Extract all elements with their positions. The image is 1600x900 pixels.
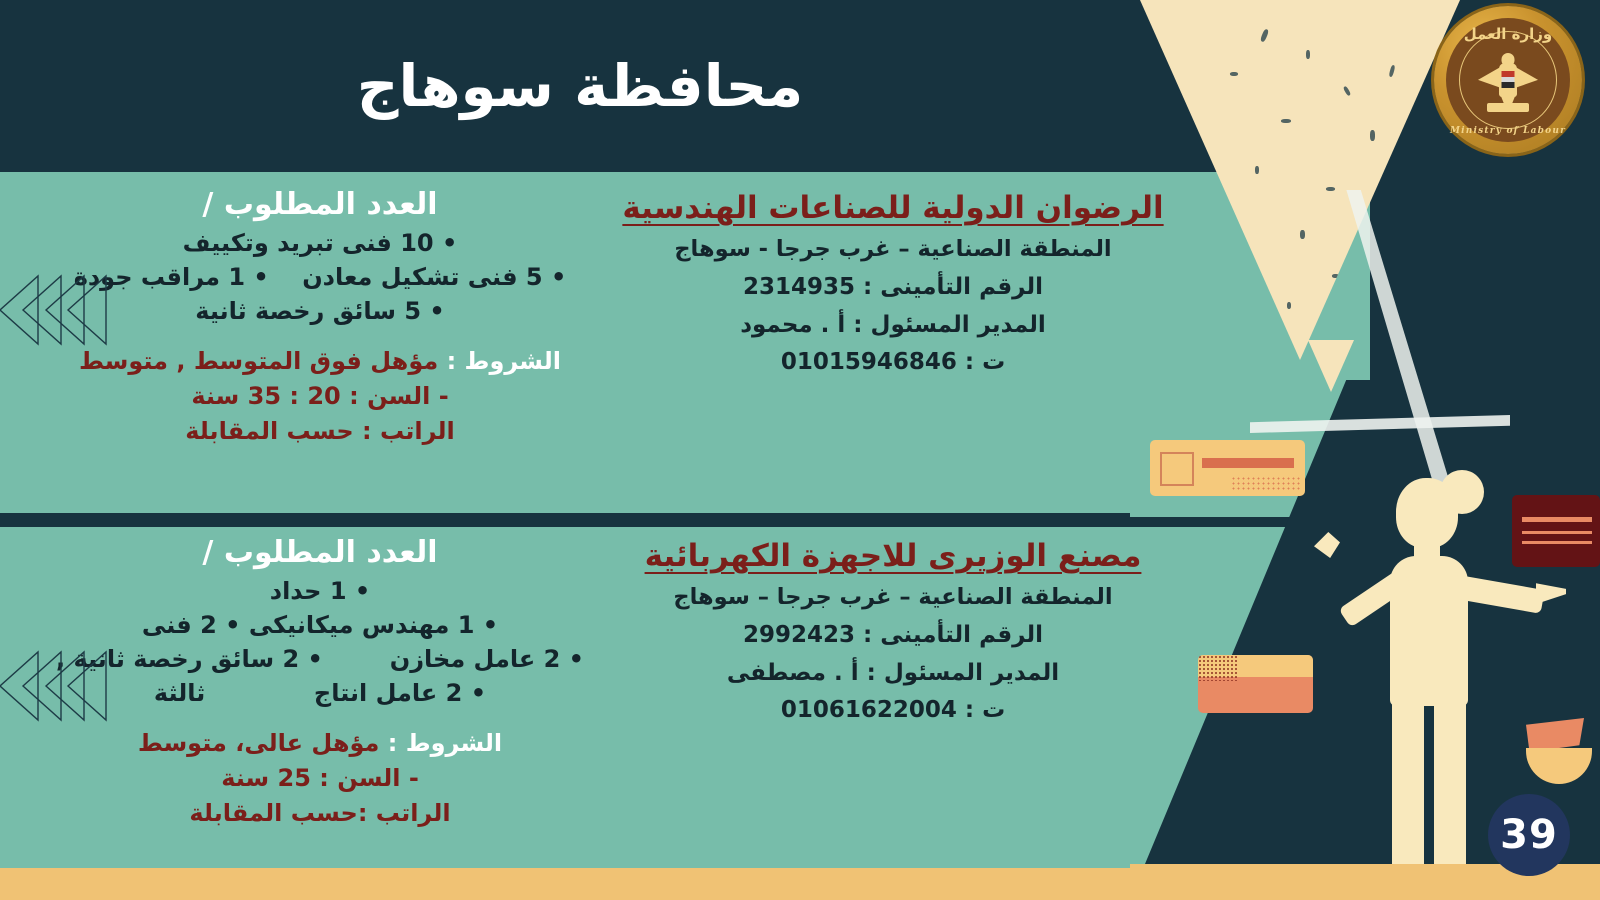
slide-root: وزارة العمل Ministry of Labour محافظة سو… bbox=[0, 0, 1600, 900]
list-item: • 2 عامل انتاج ثالثة bbox=[30, 676, 610, 710]
company-info-2: مصنع الوزيرى للاجهزة الكهربائية المنطقة … bbox=[620, 530, 1180, 860]
page-number-badge: 39 bbox=[1488, 794, 1570, 876]
conditions-age-2: - السن : 25 سنة bbox=[30, 761, 610, 796]
chevron-arrows-icon bbox=[0, 274, 108, 346]
chevron-arrows-icon bbox=[0, 650, 108, 722]
company-name-2: مصنع الوزيرى للاجهزة الكهربائية bbox=[620, 536, 1166, 577]
conditions-age-1: - السن : 20 : 35 سنة bbox=[30, 379, 610, 414]
conditions-1: الشروط : مؤهل فوق المتوسط , متوسط - السن… bbox=[30, 344, 610, 449]
orange-card-icon bbox=[1198, 655, 1313, 713]
conditions-qualification-2: مؤهل عالى، متوسط bbox=[138, 729, 380, 757]
company-insurance-1: الرقم التأمينى : 2314935 bbox=[620, 271, 1166, 304]
conditions-salary-2: الراتب :حسب المقابلة bbox=[30, 796, 610, 831]
eagle-of-saladin-icon bbox=[1479, 49, 1537, 111]
conditions-label-2: الشروط : bbox=[388, 729, 502, 757]
list-item: • 10 فنى تبريد وتكييف bbox=[30, 226, 610, 260]
company-phone-1: ت : 01015946846 bbox=[620, 346, 1166, 379]
list-item: • 5 فنى تشكيل معادن • 1 مراقب جودة bbox=[30, 260, 610, 294]
company-phone-2: ت : 01061622004 bbox=[620, 694, 1166, 727]
job-entry-1: الرضوان الدولية للصناعات الهندسية المنطق… bbox=[0, 182, 1180, 507]
job-entry-2: مصنع الوزيرى للاجهزة الكهربائية المنطقة … bbox=[0, 530, 1180, 860]
company-address-2: المنطقة الصناعية – غرب جرجا – سوهاج bbox=[620, 582, 1166, 614]
requirements-2: العدد المطلوب / • 1 حداد • 1 مهندس ميكان… bbox=[20, 530, 620, 860]
conditions-label-1: الشروط : bbox=[447, 347, 561, 375]
conditions-qualification-1: مؤهل فوق المتوسط , متوسط bbox=[79, 347, 438, 375]
ministry-of-labour-seal-icon: وزارة العمل Ministry of Labour bbox=[1434, 6, 1582, 154]
conditions-salary-1: الراتب : حسب المقابلة bbox=[30, 414, 610, 449]
company-manager-2: المدير المسئول : أ . مصطفى bbox=[620, 657, 1166, 690]
list-item: • 1 حداد bbox=[30, 574, 610, 608]
page-title: محافظة سوهاج bbox=[0, 0, 1160, 172]
list-item: • 1 مهندس ميكانيكى • 2 فنى bbox=[30, 608, 610, 642]
requirements-list-1: • 10 فنى تبريد وتكييف • 5 فنى تشكيل معاد… bbox=[30, 226, 610, 328]
conditions-2: الشروط : مؤهل عالى، متوسط - السن : 25 سن… bbox=[30, 726, 610, 831]
requirements-1: العدد المطلوب / • 10 فنى تبريد وتكييف • … bbox=[20, 182, 620, 507]
seal-english-label: Ministry of Labour bbox=[1446, 126, 1570, 136]
list-item: • 2 عامل مخازن • 2 سائق رخصة ثانية , bbox=[30, 642, 610, 676]
company-insurance-2: الرقم التأمينى : 2992423 bbox=[620, 619, 1166, 652]
company-manager-1: المدير المسئول : أ . محمود bbox=[620, 309, 1166, 342]
company-name-1: الرضوان الدولية للصناعات الهندسية bbox=[620, 188, 1166, 229]
company-info-1: الرضوان الدولية للصناعات الهندسية المنطق… bbox=[620, 182, 1180, 507]
seal-arabic-label: وزارة العمل bbox=[1446, 25, 1570, 43]
company-address-1: المنطقة الصناعية – غرب جرجا - سوهاج bbox=[620, 234, 1166, 266]
requirements-heading-2: العدد المطلوب / bbox=[30, 534, 610, 572]
requirements-list-2: • 1 حداد • 1 مهندس ميكانيكى • 2 فنى • 2 … bbox=[30, 574, 610, 710]
list-item: • 5 سائق رخصة ثانية bbox=[30, 294, 610, 328]
requirements-heading-1: العدد المطلوب / bbox=[30, 186, 610, 224]
